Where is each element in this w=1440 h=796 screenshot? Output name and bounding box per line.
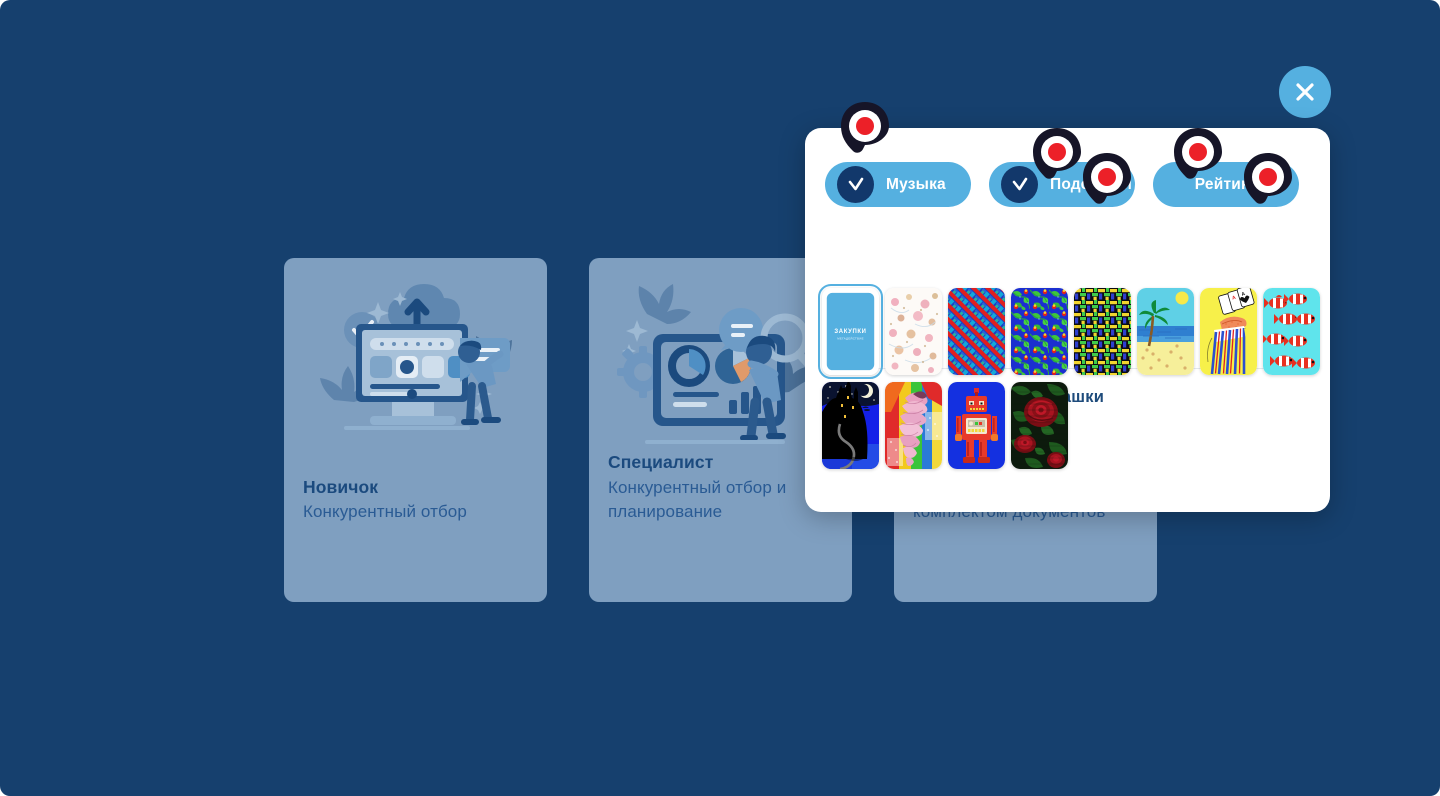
toggle-hints-label: Подсказки <box>1050 176 1132 194</box>
card-back-face <box>885 288 942 375</box>
card-back-face <box>1137 288 1194 375</box>
card-back-dark-rose[interactable] <box>1011 382 1068 469</box>
card-back-green-lattice[interactable] <box>1074 288 1131 375</box>
toggle-rating[interactable]: Рейтинг <box>1153 162 1299 207</box>
card-back-red-robot[interactable] <box>948 382 1005 469</box>
card-back-face <box>1011 288 1068 375</box>
toggle-rating-label: Рейтинг <box>1195 176 1257 194</box>
card-back-title-line1: ЗАКУПКИ <box>834 329 866 335</box>
close-icon <box>1292 79 1318 105</box>
card-back-face: ЗАКУПКИ МЕГАДЕЙСТВИЕ <box>822 288 879 375</box>
close-button[interactable] <box>1279 66 1331 118</box>
toggle-hints[interactable]: Подсказки <box>989 162 1135 207</box>
card-back-face <box>948 382 1005 469</box>
card-back-castle-night[interactable] <box>822 382 879 469</box>
settings-modal: Музыка Подсказки Рейтинг Рубашки <box>805 128 1330 512</box>
level-card-subtitle: Конкурентный отбор <box>303 500 535 524</box>
card-back-floral-pink[interactable] <box>885 288 942 375</box>
card-back-ice-cream[interactable] <box>885 382 942 469</box>
card-back-blue-leaves[interactable] <box>1011 288 1068 375</box>
card-back-face <box>822 382 879 469</box>
card-back-poker-hand[interactable]: A A <box>1200 288 1257 375</box>
level-card-novice[interactable]: Новичок Конкурентный отбор <box>284 258 547 602</box>
app-root: Новичок Конкурентный отбор <box>0 0 1440 796</box>
card-back-face <box>1074 288 1131 375</box>
card-back-face <box>885 382 942 469</box>
card-backs-grid: ЗАКУПКИ МЕГАДЕЙСТВИЕ <box>822 288 1322 469</box>
card-back-face <box>1263 288 1320 375</box>
card-back-beach-palm[interactable] <box>1137 288 1194 375</box>
check-icon <box>837 166 874 203</box>
card-back-face <box>1011 382 1068 469</box>
card-back-red-blue-weave[interactable] <box>948 288 1005 375</box>
card-back-clownfish[interactable] <box>1263 288 1320 375</box>
level-card-text: Новичок Конкурентный отбор <box>303 475 535 525</box>
toggle-music[interactable]: Музыка <box>825 162 971 207</box>
level-card-title: Новичок <box>303 475 535 500</box>
card-back-zakupki-brand[interactable]: ЗАКУПКИ МЕГАДЕЙСТВИЕ <box>822 288 879 375</box>
card-back-face <box>948 288 1005 375</box>
card-back-face: A A <box>1200 288 1257 375</box>
toggle-music-label: Музыка <box>886 176 946 194</box>
toggle-row: Музыка Подсказки Рейтинг <box>805 162 1330 207</box>
card-back-title-line2: МЕГАДЕЙСТВИЕ <box>837 337 864 341</box>
check-icon <box>1001 166 1038 203</box>
monitor-upload-illustration <box>284 268 547 468</box>
